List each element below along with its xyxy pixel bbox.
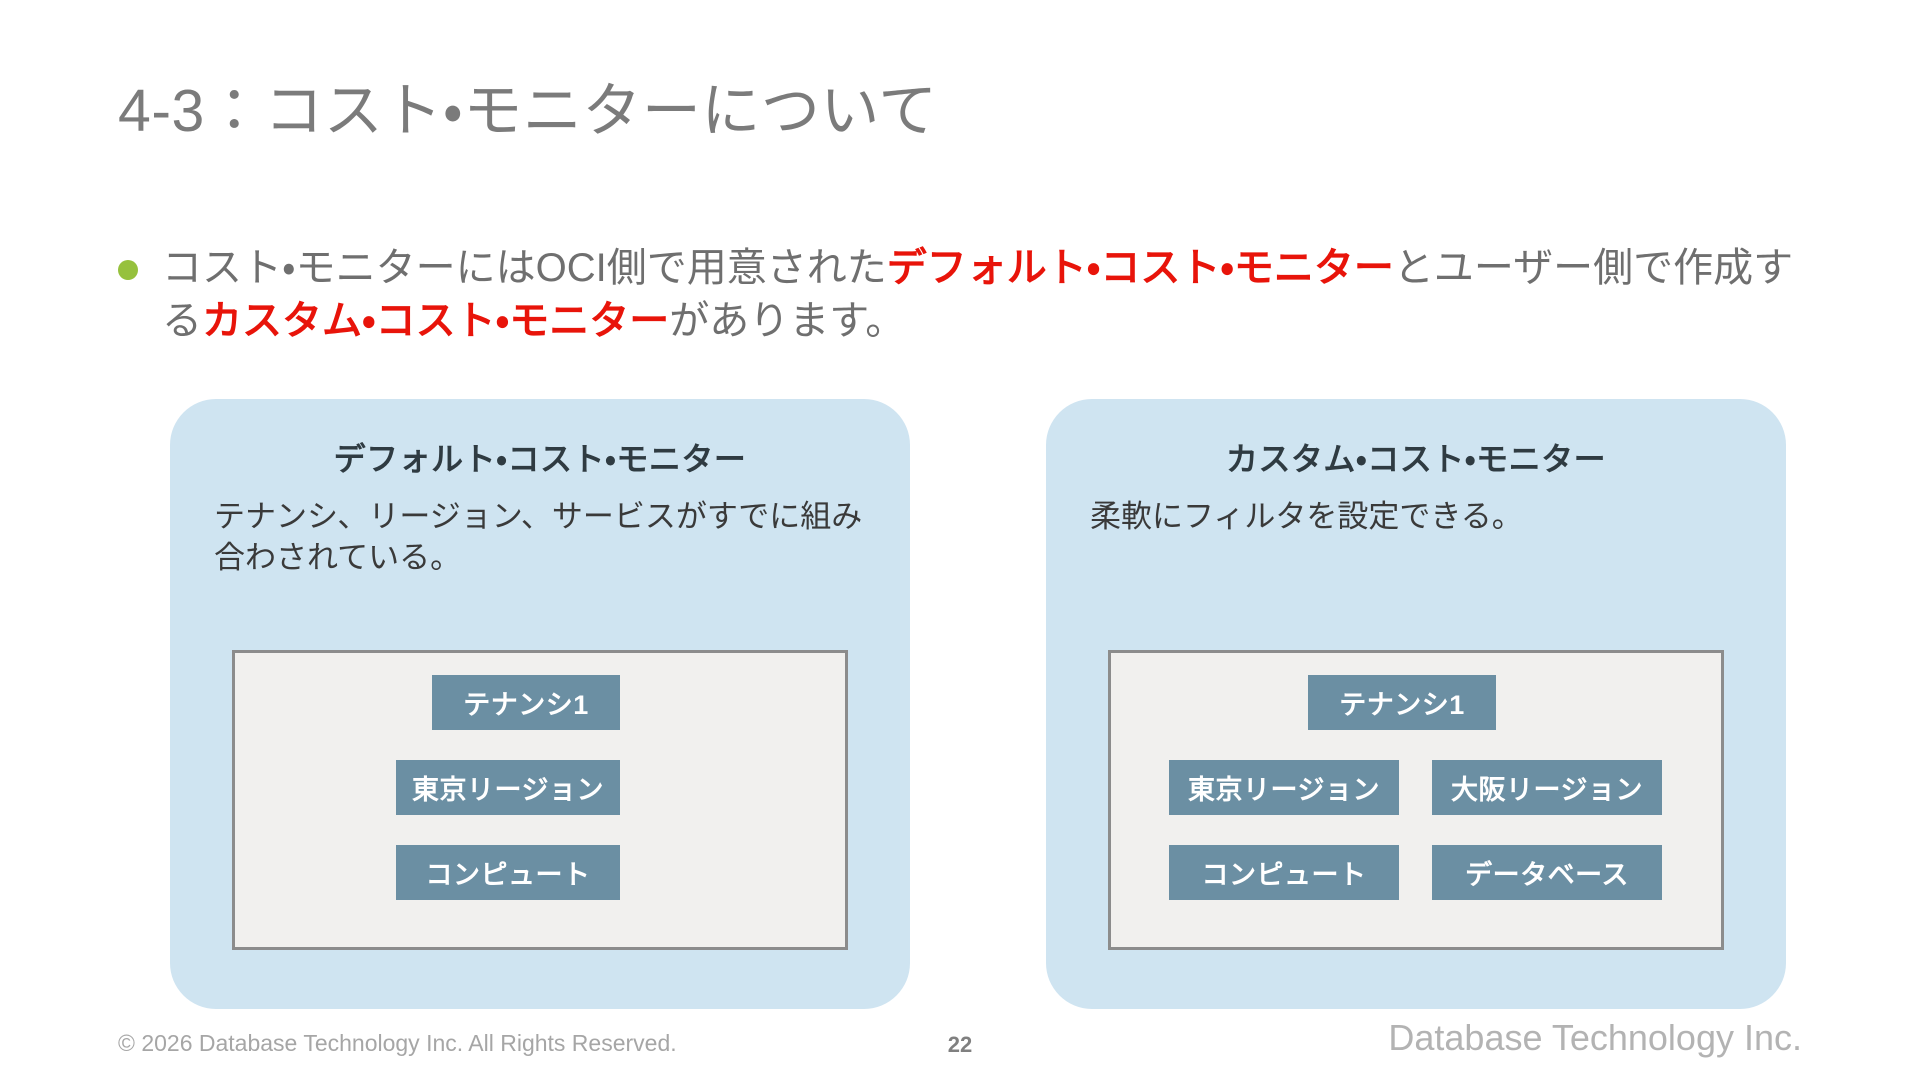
- chip-service: コンピュート: [396, 845, 620, 900]
- bullet-segment-plain-2: と: [1394, 246, 1434, 290]
- bullet-segment-plain-4: があります。: [669, 299, 905, 343]
- chip-region-b: 大阪リージョン: [1432, 760, 1662, 815]
- bullet-paragraph: コスト・モニターにはOCI側で用意されたデフォルト・コスト・モニターとユーザー側…: [118, 242, 1818, 348]
- slide-root: 4-3：コスト・モニターについて コスト・モニターにはOCI側で用意されたデフォ…: [0, 0, 1920, 1080]
- card-default-cost-monitor: デフォルト・コスト・モニター テナンシ、リージョン、サービスがすでに組み合わされ…: [170, 399, 910, 1009]
- footer-logo: Database Technology Inc.: [1388, 1017, 1802, 1059]
- bullet-text: コスト・モニターにはOCI側で用意されたデフォルト・コスト・モニターとユーザー側…: [162, 242, 1818, 348]
- bullet-marker-icon: [118, 260, 138, 280]
- diagram-box: テナンシ1 東京リージョン コンピュート: [232, 650, 848, 950]
- card-title: デフォルト・コスト・モニター: [170, 434, 910, 480]
- card-description: 柔軟にフィルタを設定できる。: [1090, 497, 1742, 538]
- page-title: 4-3：コスト・モニターについて: [118, 78, 938, 146]
- card-title: カスタム・コスト・モニター: [1046, 434, 1786, 480]
- bullet-segment-plain-1: コスト・モニターにはOCI側で用意された: [162, 246, 887, 290]
- chip-tenancy: テナンシ1: [1308, 675, 1496, 730]
- chip-service-a: コンピュート: [1169, 845, 1399, 900]
- diagram-box: テナンシ1 東京リージョン 大阪リージョン コンピュート データベース: [1108, 650, 1724, 950]
- bullet-segment-highlight-2: カスタム・コスト・モニター: [202, 299, 669, 343]
- chip-region: 東京リージョン: [396, 760, 620, 815]
- chip-service-b: データベース: [1432, 845, 1662, 900]
- chip-tenancy: テナンシ1: [432, 675, 620, 730]
- card-description: テナンシ、リージョン、サービスがすでに組み合わされている。: [214, 497, 866, 579]
- card-custom-cost-monitor: カスタム・コスト・モニター 柔軟にフィルタを設定できる。 テナンシ1 東京リージ…: [1046, 399, 1786, 1009]
- chip-region-a: 東京リージョン: [1169, 760, 1399, 815]
- bullet-segment-highlight-1: デフォルト・コスト・モニター: [887, 246, 1394, 290]
